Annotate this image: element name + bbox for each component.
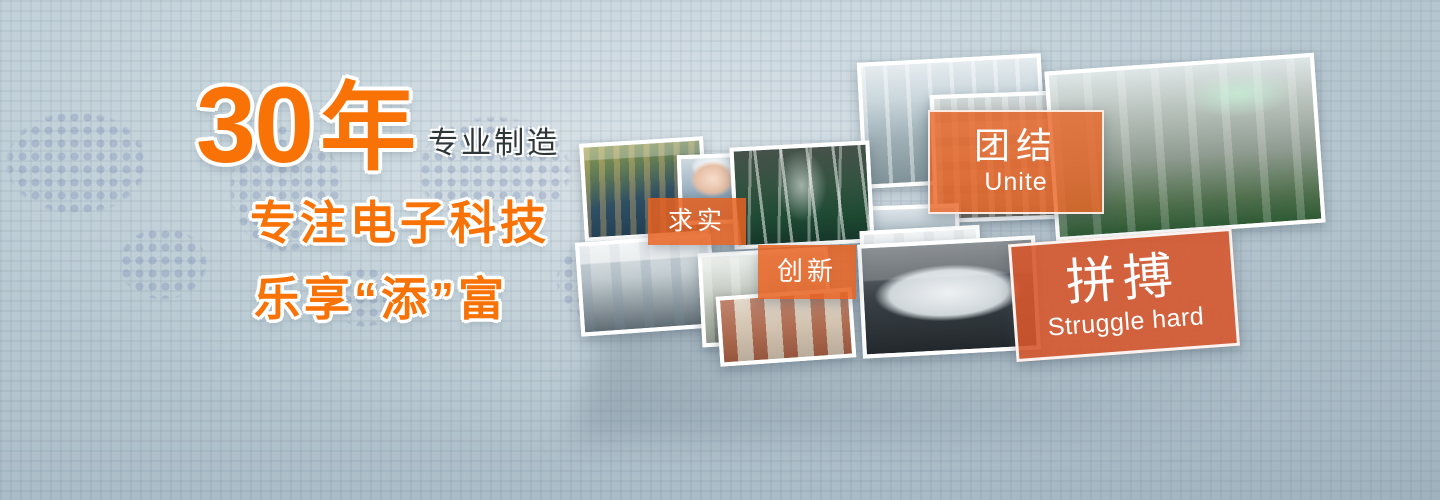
photo-collage: 求实 创新 团结 Unite 拼搏 Struggle hard bbox=[560, 0, 1440, 500]
photo-warehouse-corridor bbox=[716, 287, 857, 366]
badge-unite-label-cn: 团结 bbox=[974, 127, 1058, 165]
headline-block: 30 年 专业制造 专注电子科技 乐享“添”富 bbox=[196, 74, 616, 329]
warehouse-corridor-image bbox=[720, 292, 852, 363]
years-number: 30 bbox=[196, 74, 312, 176]
photo-reflow-oven bbox=[575, 233, 717, 336]
badge-unite-label-en: Unite bbox=[984, 168, 1047, 197]
years-unit: 年 bbox=[320, 83, 416, 175]
reflow-oven-image bbox=[579, 238, 713, 333]
photo-production-hall bbox=[729, 140, 874, 249]
badge-qiushi: 求实 bbox=[648, 198, 746, 245]
headline-subtitle: 专业制造 bbox=[428, 118, 560, 162]
badge-unite: 团结 Unite bbox=[928, 110, 1104, 214]
headline-top-line: 30 年 专业制造 bbox=[196, 74, 616, 176]
badge-chuangxin-label: 创新 bbox=[777, 258, 837, 286]
badge-struggle-label-cn: 拼搏 bbox=[1064, 249, 1182, 310]
badge-qiushi-label: 求实 bbox=[668, 208, 726, 235]
badge-chuangxin: 创新 bbox=[758, 245, 856, 299]
production-hall-image bbox=[734, 145, 871, 246]
badge-struggle-hard: 拼搏 Struggle hard bbox=[1008, 228, 1240, 362]
promo-banner: 30 年 专业制造 专注电子科技 乐享“添”富 bbox=[0, 0, 1440, 500]
